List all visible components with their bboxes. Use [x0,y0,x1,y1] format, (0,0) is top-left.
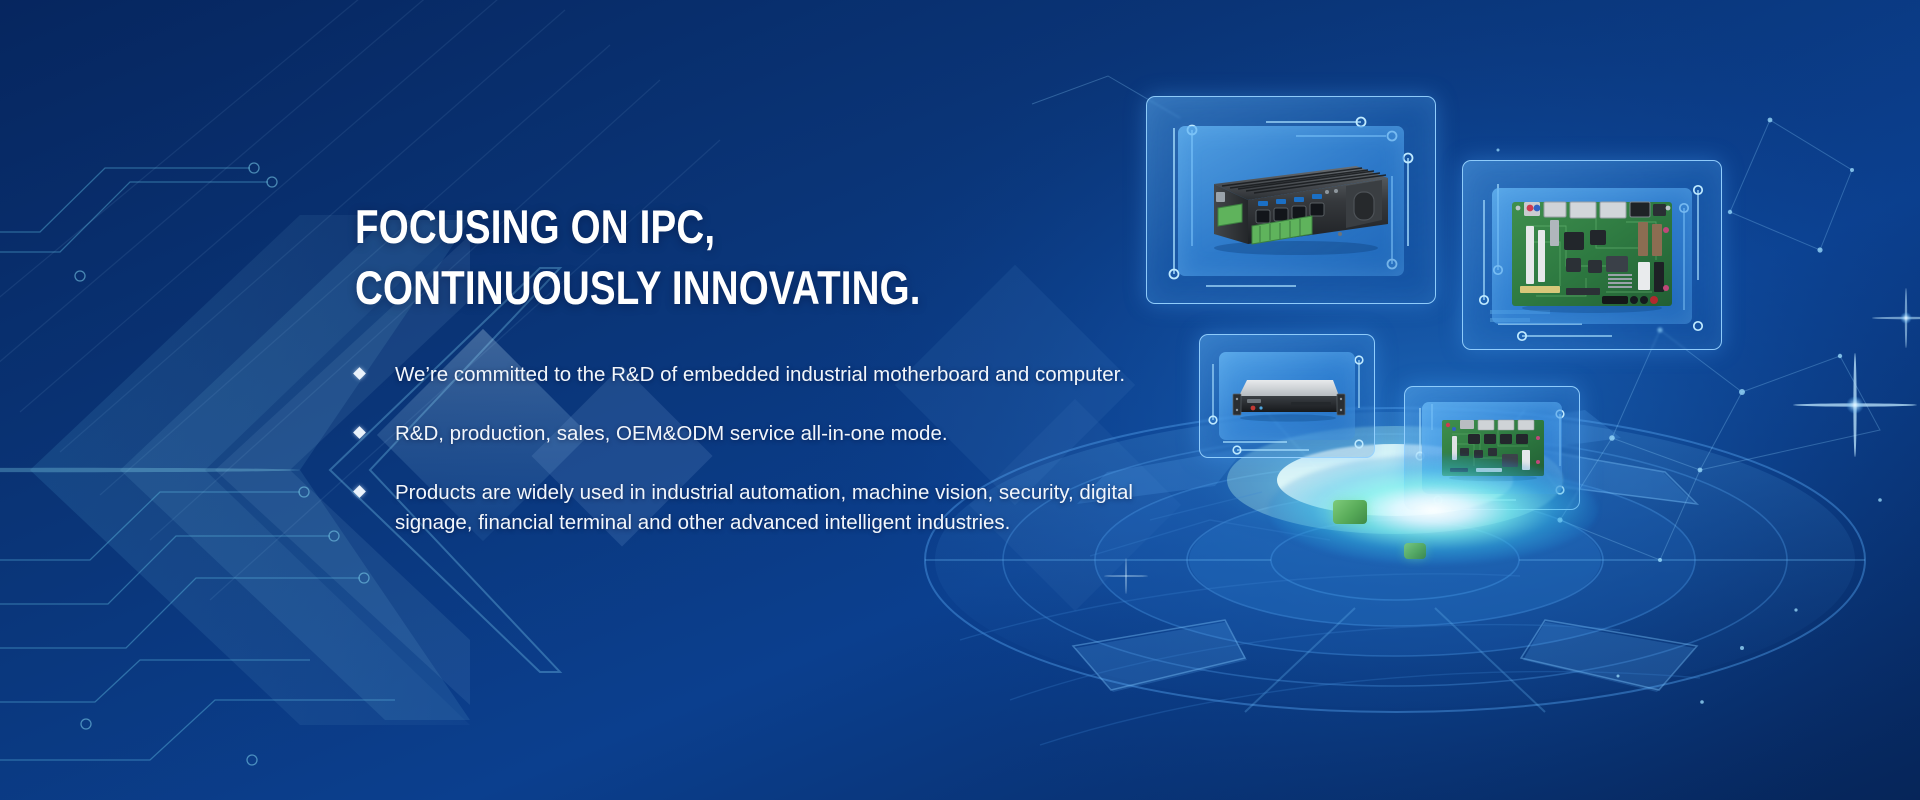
rackmount-server-icon [1229,372,1347,422]
list-item: R&D, production, sales, OEM&ODM service … [355,419,1155,448]
list-item-text: We’re committed to the R&D of embedded i… [395,363,1125,386]
list-item-text: R&D, production, sales, OEM&ODM service … [395,422,948,445]
list-item-text: Products are widely used in industrial a… [395,481,1133,533]
hero-banner: FOCUSING ON IPC,CONTINUOUSLY INNOVATING.… [0,0,1920,800]
platform-core-glow [1268,455,1598,565]
diamond-bullet-icon [353,426,366,439]
feature-list: We’re committed to the R&D of embedded i… [355,360,1175,536]
industrial-pc-icon [1196,148,1396,256]
product-card-rackmount[interactable] [1199,334,1375,458]
headline-line-1: FOCUSING ON IPC, [355,200,715,253]
list-item: Products are widely used in industrial a… [355,478,1155,536]
diamond-bullet-icon [353,486,366,499]
motherboard-icon [1506,196,1678,314]
list-item: We’re committed to the R&D of embedded i… [355,360,1155,389]
product-card-motherboard[interactable] [1462,160,1722,350]
product-card-industrial-pc[interactable] [1146,96,1436,304]
floating-chip-icon [1404,543,1426,559]
hero-copy: FOCUSING ON IPC,CONTINUOUSLY INNOVATING.… [355,196,1175,537]
page-title: FOCUSING ON IPC,CONTINUOUSLY INNOVATING. [355,196,1027,318]
floating-chip-icon [1333,500,1367,524]
headline-line-2: CONTINUOUSLY INNOVATING. [355,257,1027,318]
diamond-bullet-icon [353,367,366,380]
